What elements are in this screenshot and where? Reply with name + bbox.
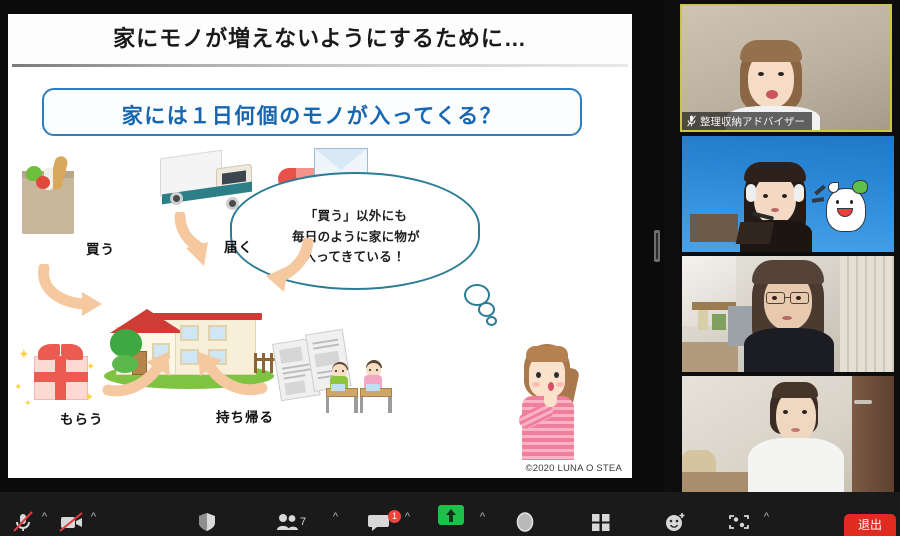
- slide-heading-text: 家には１日何個のモノが入ってくる？: [44, 100, 580, 130]
- chat-button[interactable]: 1: [366, 511, 392, 533]
- presentation-slide: 家にモノが増えないようにするために… 家には１日何個のモノが入ってくる？: [8, 14, 632, 478]
- security-button[interactable]: [194, 511, 220, 533]
- thinking-woman-icon: [516, 342, 580, 460]
- flow-arrow-buy-to-house: [36, 264, 106, 318]
- chat-unread-badge: 1: [388, 510, 401, 523]
- microphone-muted-icon: [10, 511, 36, 533]
- title-divider: [12, 64, 628, 67]
- shield-icon: [194, 511, 220, 533]
- panel-resize-handle[interactable]: [654, 230, 660, 262]
- record-circle-icon: [512, 511, 538, 533]
- laptop: [736, 222, 775, 244]
- furniture: [690, 214, 738, 242]
- reactions-button[interactable]: [662, 511, 688, 533]
- slide-title-bar: 家にモノが増えないようにするために…: [8, 14, 632, 64]
- mute-button[interactable]: [10, 511, 36, 533]
- diagram-label-mochikaeru: 持ち帰る: [216, 406, 274, 426]
- video-camera-muted-icon: [58, 511, 84, 533]
- smiley-plus-icon: [662, 511, 688, 533]
- participant-name-text: 整理収納アドバイザー: [700, 114, 805, 129]
- shared-screen-viewport[interactable]: 家にモノが増えないようにするために… 家には１日何個のモノが入ってくる？: [0, 0, 664, 492]
- share-options-caret[interactable]: ^: [478, 513, 487, 522]
- video-button[interactable]: [58, 511, 84, 533]
- record-button[interactable]: [512, 511, 538, 533]
- diagram-label-kau: 買う: [86, 238, 115, 258]
- video-tile-1[interactable]: 整理収納アドバイザー: [680, 4, 892, 132]
- slide-diagram: ✦ ✦ ✦ ✦ ✦: [8, 144, 632, 478]
- gift-box-icon: ✦ ✦ ✦ ✦ ✦: [30, 342, 92, 400]
- participants-icon: 7: [276, 511, 312, 533]
- grocery-bag-icon: [22, 154, 74, 234]
- video-tile-4[interactable]: [682, 376, 894, 492]
- flow-arrow-gift-to-house: [102, 348, 176, 398]
- video-tile-3[interactable]: [682, 256, 894, 372]
- video-feed: [682, 256, 894, 372]
- slide-title: 家にモノが増えないようにするために…: [8, 21, 632, 53]
- grid-squares-icon: [588, 511, 614, 533]
- door: [852, 376, 894, 492]
- participants-options-caret[interactable]: ^: [331, 513, 340, 522]
- view-frame-icon: [726, 511, 752, 533]
- video-gallery-strip: 整理収納アドバイザー: [676, 0, 900, 492]
- students-at-desks-icon: [326, 356, 400, 412]
- slide-copyright: ©2020 LUNA O STEA: [526, 463, 622, 474]
- door-handle: [854, 400, 872, 404]
- zoom-meeting-window: 家にモノが増えないようにするために… 家には１日何個のモノが入ってくる？: [0, 0, 900, 536]
- flow-arrow-mail-to-house: [258, 238, 314, 300]
- video-feed: [682, 136, 894, 252]
- share-screen-up-arrow-icon: [438, 505, 464, 525]
- chat-options-caret[interactable]: ^: [403, 513, 412, 522]
- diagram-label-todoku: 届く: [224, 236, 253, 256]
- mute-options-caret[interactable]: ^: [40, 513, 49, 522]
- leave-meeting-button[interactable]: 退出: [844, 514, 896, 536]
- microphone-muted-icon: [687, 115, 696, 127]
- video-options-caret[interactable]: ^: [89, 513, 98, 522]
- slide-heading-box: 家には１日何個のモノが入ってくる？: [42, 88, 582, 136]
- thought-bubble-dot: [478, 302, 495, 317]
- video-tile-2[interactable]: [682, 136, 894, 252]
- share-screen-button[interactable]: [437, 509, 465, 533]
- video-feed: [682, 376, 894, 492]
- flow-arrow-bringhome-to-house: [190, 348, 270, 398]
- view-options-caret[interactable]: ^: [762, 513, 771, 522]
- chat-bubble-icon: 1: [366, 511, 392, 533]
- view-button[interactable]: [726, 511, 752, 533]
- leave-meeting-label: 退出: [858, 518, 882, 532]
- flow-arrow-truck-to-house: [174, 212, 220, 270]
- diagram-label-morau: もらう: [60, 408, 104, 428]
- breakout-rooms-button[interactable]: [588, 511, 614, 533]
- meeting-toolbar: ^ ^: [0, 492, 900, 536]
- participants-button[interactable]: 7: [276, 511, 312, 533]
- participants-count: 7: [300, 516, 306, 528]
- participant-name-tag: 整理収納アドバイザー: [682, 112, 812, 130]
- thought-bubble-dot: [486, 316, 497, 326]
